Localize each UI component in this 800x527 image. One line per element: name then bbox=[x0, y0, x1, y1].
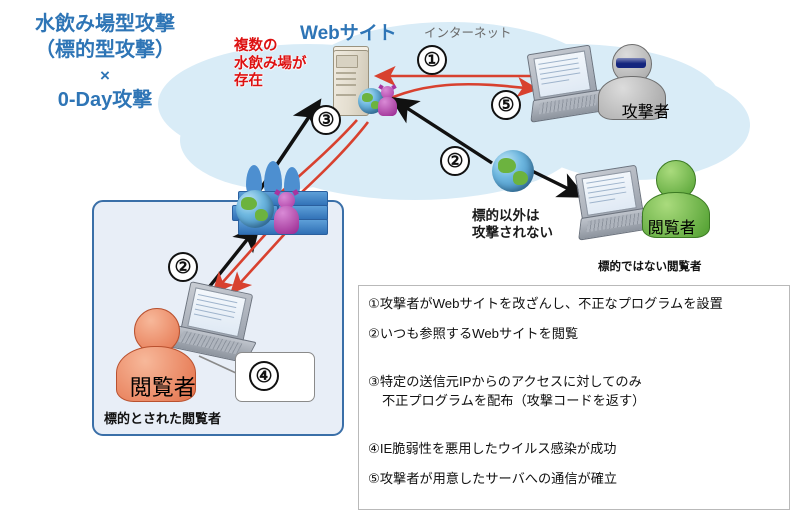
server-slot bbox=[336, 72, 356, 74]
legend-item-3: ③特定の送信元IPからのアクセスに対してのみ 不正プログラムを配布（攻撃コードを… bbox=[368, 354, 780, 429]
step-marker-5: ⑤ bbox=[491, 90, 521, 120]
server-slot bbox=[336, 78, 356, 80]
legend-item-3-line-2: 不正プログラムを配布（攻撃コードを返す） bbox=[368, 392, 780, 411]
target-viewer-label-text: 閲覧者 bbox=[130, 370, 196, 402]
globe-landmass bbox=[513, 171, 528, 185]
nontarget-viewer-label-text: 閲覧者 bbox=[648, 214, 696, 238]
diagram-canvas: 水飲み場型攻撃 （標的型攻撃） × 0-Day攻撃 Webサイト インターネット… bbox=[0, 0, 800, 527]
globe-landmass bbox=[255, 209, 268, 221]
legend-item-5: ⑤攻撃者が用意したサーバへの通信が確立 bbox=[368, 470, 780, 489]
step-marker-4: ④ bbox=[249, 361, 279, 391]
step-marker-2-lower: ② bbox=[168, 252, 198, 282]
step-marker-2: ② bbox=[440, 146, 470, 176]
malware-devil-icon-server bbox=[376, 86, 400, 116]
legend-item-1: ①攻撃者がWebサイトを改ざんし、不正なプログラムを設置 bbox=[368, 295, 780, 314]
devil-body bbox=[378, 97, 397, 116]
target-viewer-caption: 標的とされた閲覧者 bbox=[104, 408, 221, 427]
legend-item-2: ②いつも参照するWebサイトを閲覧 bbox=[368, 325, 780, 344]
globe-icon-firewall bbox=[236, 190, 274, 228]
nontarget-viewer-label: 閲覧者 bbox=[630, 196, 696, 256]
attacker-label-text: 攻撃者 bbox=[622, 98, 670, 122]
step-marker-1: ① bbox=[417, 45, 447, 75]
attacker-label: 攻撃者 bbox=[604, 80, 670, 140]
legend-item-4: ④IE脆弱性を悪用したウイルス感染が成功 bbox=[368, 440, 780, 459]
server-slot bbox=[336, 94, 356, 96]
globe-landmass bbox=[498, 158, 516, 173]
nontarget-viewer-caption: 標的ではない閲覧者 bbox=[598, 258, 702, 274]
legend-item-3-line-1: ③特定の送信元IPからのアクセスに対してのみ bbox=[368, 374, 642, 389]
legend-box: ①攻撃者がWebサイトを改ざんし、不正なプログラムを設置 ②いつも参照するWeb… bbox=[358, 285, 790, 510]
sunglasses-icon bbox=[616, 58, 646, 68]
step-marker-3: ③ bbox=[311, 105, 341, 135]
devil-horn bbox=[391, 84, 396, 89]
malware-devil-icon-firewall bbox=[272, 192, 302, 236]
server-slot bbox=[336, 84, 356, 86]
devil-body bbox=[274, 206, 299, 234]
globe-landmass bbox=[362, 93, 373, 102]
server-drive-bay bbox=[336, 55, 358, 68]
globe-icon-internet bbox=[492, 150, 534, 192]
globe-landmass bbox=[241, 197, 257, 210]
